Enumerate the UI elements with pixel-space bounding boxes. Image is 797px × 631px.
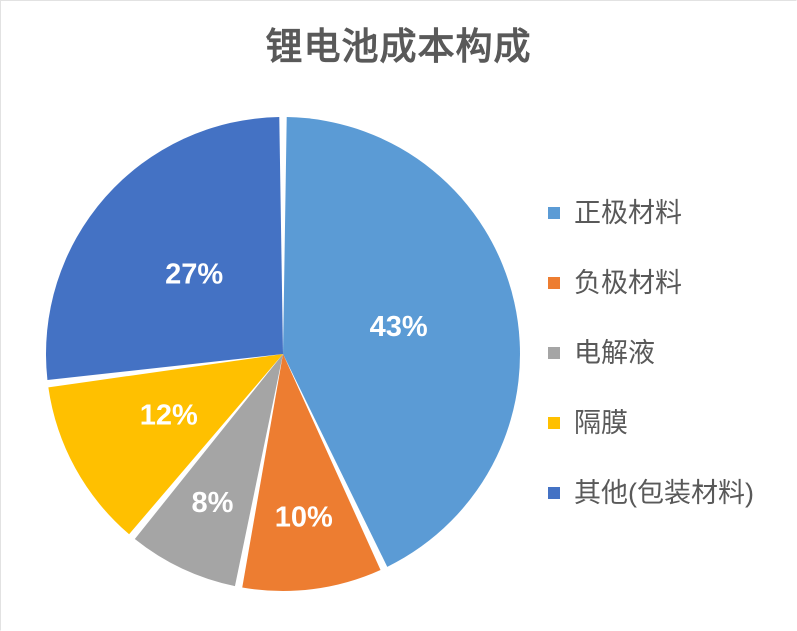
legend-swatch-icon: [548, 207, 560, 219]
legend-swatch-icon: [548, 487, 560, 499]
legend-item[interactable]: 其他(包装材料): [548, 458, 793, 528]
legend-swatch-icon: [548, 347, 560, 359]
pie-slice-label: 27%: [165, 258, 223, 290]
pie-slice-label: 12%: [140, 399, 198, 431]
legend-swatch-icon: [548, 417, 560, 429]
legend-item-label: 隔膜: [574, 410, 628, 437]
legend-item-label: 其他(包装材料): [574, 480, 754, 507]
pie-slice-label: 10%: [275, 501, 333, 533]
legend-item[interactable]: 隔膜: [548, 388, 793, 458]
legend-item-label: 正极材料: [574, 200, 682, 227]
pie-slice[interactable]: [46, 117, 283, 380]
legend-item[interactable]: 负极材料: [548, 248, 793, 318]
pie-slice-label: 8%: [191, 487, 233, 519]
chart-legend: 正极材料负极材料电解液隔膜其他(包装材料): [548, 178, 793, 528]
pie-slice-label: 43%: [370, 311, 428, 343]
plot-area: 43%10%8%12%27%: [0, 0, 545, 631]
legend-item[interactable]: 正极材料: [548, 178, 793, 248]
legend-swatch-icon: [548, 277, 560, 289]
legend-item[interactable]: 电解液: [548, 318, 793, 388]
pie-chart: 43%10%8%12%27%: [45, 116, 521, 592]
chart-screenshot: 锂电池成本构成 43%10%8%12%27% 正极材料负极材料电解液隔膜其他(包…: [0, 0, 797, 631]
legend-item-label: 电解液: [574, 340, 655, 367]
legend-item-label: 负极材料: [574, 270, 682, 297]
